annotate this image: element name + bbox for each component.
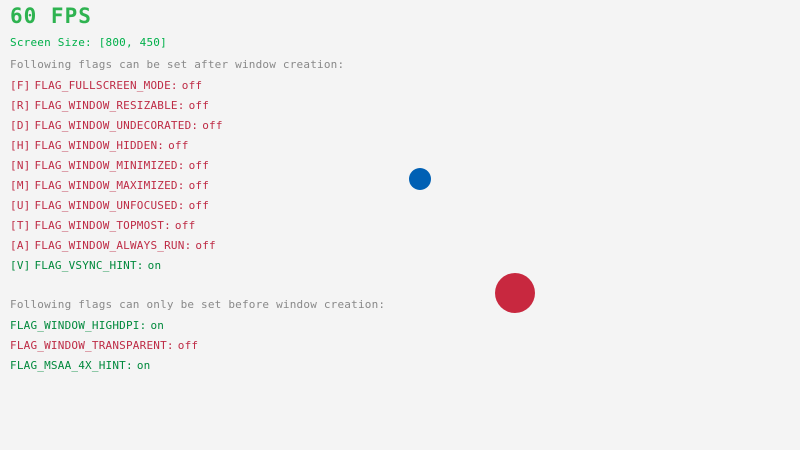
flag-state-value: off <box>195 239 215 252</box>
flag-row[interactable]: [A]FLAG_WINDOW_ALWAYS_RUN:off <box>10 240 216 251</box>
flag-shortcut-key: [F] <box>10 79 30 92</box>
flag-row[interactable]: [U]FLAG_WINDOW_UNFOCUSED:off <box>10 200 209 211</box>
flag-shortcut-key: [D] <box>10 119 30 132</box>
flag-name: FLAG_WINDOW_UNDECORATED: <box>34 119 198 132</box>
flag-row[interactable]: [D]FLAG_WINDOW_UNDECORATED:off <box>10 120 223 131</box>
flag-shortcut-key: [R] <box>10 99 30 112</box>
flag-row[interactable]: [M]FLAG_WINDOW_MAXIMIZED:off <box>10 180 209 191</box>
flag-name: FLAG_FULLSCREEN_MODE: <box>34 79 177 92</box>
flag-name: FLAG_WINDOW_MINIMIZED: <box>34 159 184 172</box>
raylib-window-flags-canvas[interactable]: 60 FPS Screen Size: [800, 450] Following… <box>0 0 800 450</box>
flag-state-value: off <box>189 159 209 172</box>
flag-state-value: on <box>148 259 162 272</box>
flag-row: FLAG_MSAA_4X_HINT:on <box>10 360 150 371</box>
section-heading-before-creation: Following flags can only be set before w… <box>10 299 385 310</box>
flag-state-value: off <box>178 339 198 352</box>
flag-name: FLAG_WINDOW_HIDDEN: <box>34 139 164 152</box>
flag-state-value: off <box>189 179 209 192</box>
flag-name: FLAG_WINDOW_UNFOCUSED: <box>34 199 184 212</box>
flag-state-value: off <box>182 79 202 92</box>
flag-row[interactable]: [F]FLAG_FULLSCREEN_MODE:off <box>10 80 202 91</box>
flag-name: FLAG_WINDOW_HIGHDPI: <box>10 319 146 332</box>
screen-size-readout: Screen Size: [800, 450] <box>10 37 167 48</box>
flag-row: FLAG_WINDOW_HIGHDPI:on <box>10 320 164 331</box>
flag-shortcut-key: [U] <box>10 199 30 212</box>
flag-state-value: off <box>202 119 222 132</box>
flag-shortcut-key: [V] <box>10 259 30 272</box>
fps-counter: 60 FPS <box>10 6 92 27</box>
flag-name: FLAG_WINDOW_ALWAYS_RUN: <box>34 239 191 252</box>
flag-name: FLAG_MSAA_4X_HINT: <box>10 359 133 372</box>
red-ball-shape <box>495 273 535 313</box>
flag-state-value: on <box>137 359 151 372</box>
flag-state-value: off <box>189 99 209 112</box>
flag-row[interactable]: [R]FLAG_WINDOW_RESIZABLE:off <box>10 100 209 111</box>
flag-row: FLAG_WINDOW_TRANSPARENT:off <box>10 340 198 351</box>
flag-state-value: off <box>175 219 195 232</box>
flag-shortcut-key: [A] <box>10 239 30 252</box>
flag-shortcut-key: [N] <box>10 159 30 172</box>
flag-shortcut-key: [M] <box>10 179 30 192</box>
flag-name: FLAG_WINDOW_RESIZABLE: <box>34 99 184 112</box>
flag-row[interactable]: [V]FLAG_VSYNC_HINT:on <box>10 260 161 271</box>
flag-row[interactable]: [T]FLAG_WINDOW_TOPMOST:off <box>10 220 195 231</box>
flag-row[interactable]: [N]FLAG_WINDOW_MINIMIZED:off <box>10 160 209 171</box>
flag-state-value: off <box>168 139 188 152</box>
blue-ball-shape <box>409 168 431 190</box>
flag-state-value: off <box>189 199 209 212</box>
flag-shortcut-key: [T] <box>10 219 30 232</box>
flag-name: FLAG_VSYNC_HINT: <box>34 259 143 272</box>
flag-shortcut-key: [H] <box>10 139 30 152</box>
flag-state-value: on <box>150 319 164 332</box>
flag-row[interactable]: [H]FLAG_WINDOW_HIDDEN:off <box>10 140 189 151</box>
flag-name: FLAG_WINDOW_TRANSPARENT: <box>10 339 174 352</box>
flag-name: FLAG_WINDOW_TOPMOST: <box>34 219 170 232</box>
section-heading-after-creation: Following flags can be set after window … <box>10 59 344 70</box>
flag-name: FLAG_WINDOW_MAXIMIZED: <box>34 179 184 192</box>
